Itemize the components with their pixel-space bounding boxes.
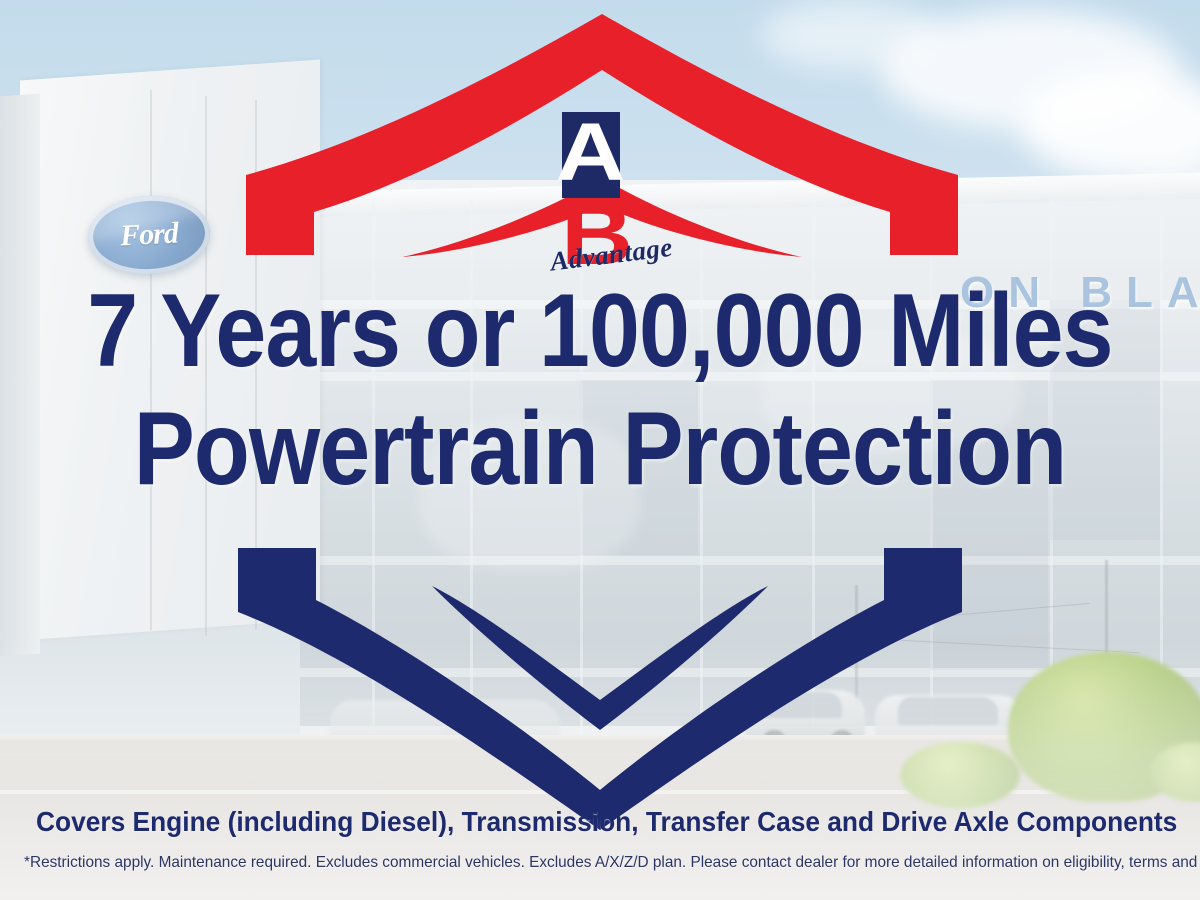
window-mullion xyxy=(700,200,703,740)
dealership-pylon xyxy=(20,60,320,641)
glass-reflection xyxy=(760,330,1020,450)
ab-advantage-logo: A B Advantage xyxy=(556,112,648,282)
logo-letter-a-box: A xyxy=(562,112,620,198)
shrub xyxy=(900,742,1020,808)
footer-text-block: Covers Engine (including Diesel), Transm… xyxy=(0,806,1200,872)
pylon-edge xyxy=(0,94,40,657)
light-pole xyxy=(855,585,858,705)
coverage-statement: Covers Engine (including Diesel), Transm… xyxy=(36,806,1164,838)
cloud xyxy=(760,0,940,70)
disclaimer-text: *Restrictions apply. Maintenance require… xyxy=(24,854,1176,872)
window-mullion xyxy=(372,200,375,740)
pylon-seam xyxy=(150,90,152,630)
ford-oval-icon: Ford xyxy=(86,193,212,277)
logo-letter-a: A xyxy=(556,118,626,188)
pylon-seam xyxy=(205,96,207,636)
window-mullion xyxy=(812,200,815,740)
glass-band xyxy=(300,556,1200,565)
car-window xyxy=(898,697,998,725)
glass-reflection xyxy=(420,420,640,570)
powertrain-protection-banner: Ford ON BLA xyxy=(0,0,1200,900)
dealership-sign-text: ON BLA xyxy=(960,268,1200,318)
car-window xyxy=(762,692,842,718)
lot-line xyxy=(0,790,1200,794)
glass-pane xyxy=(1050,300,1160,540)
pylon-seam xyxy=(255,100,257,630)
